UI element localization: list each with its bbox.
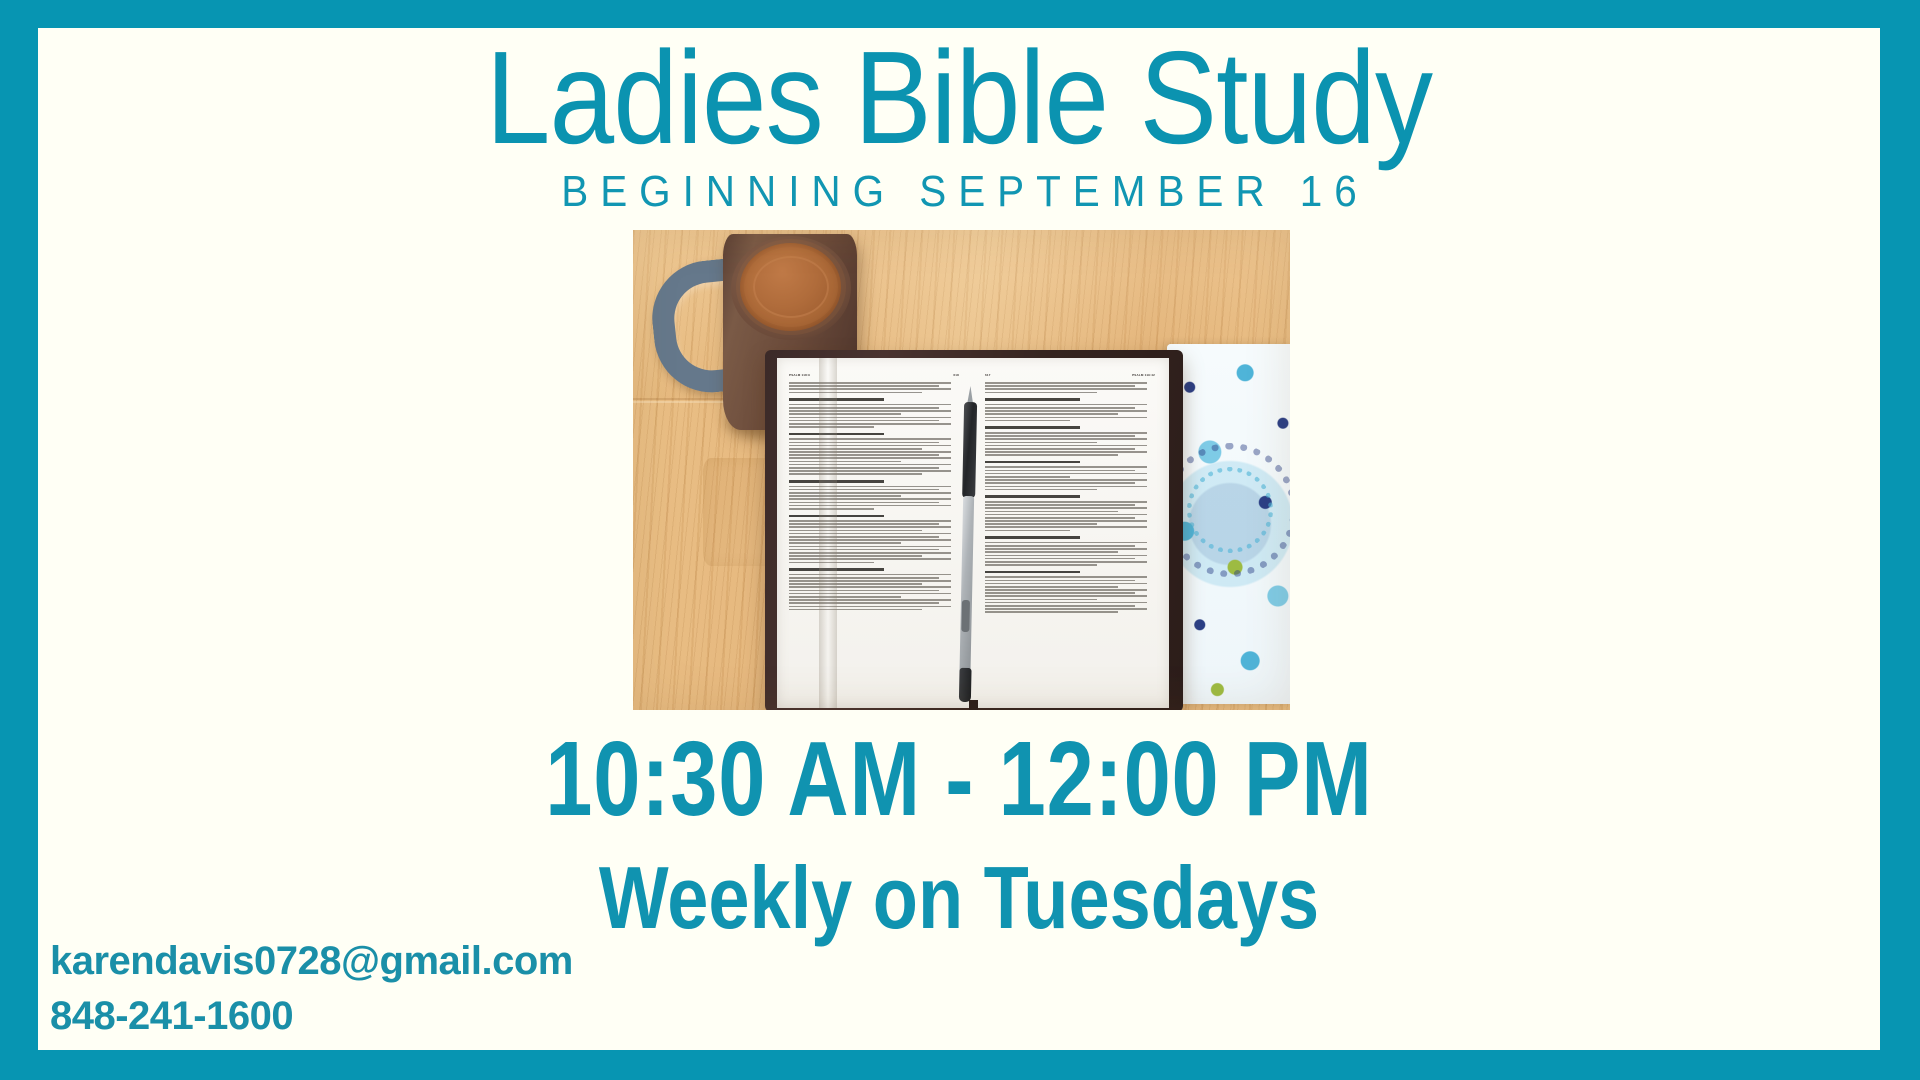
text-line bbox=[985, 486, 1147, 488]
text-line bbox=[789, 520, 951, 522]
bible-gutter bbox=[819, 358, 837, 708]
text-line bbox=[789, 461, 901, 463]
contact-phone[interactable]: 848-241-1600 bbox=[50, 995, 573, 1038]
text-line bbox=[789, 448, 922, 450]
text-line bbox=[985, 583, 1147, 585]
text-line bbox=[789, 445, 951, 447]
section-heading bbox=[985, 398, 1080, 401]
section-heading bbox=[985, 426, 1080, 429]
text-line bbox=[789, 388, 951, 390]
text-line bbox=[985, 489, 1097, 491]
text-line bbox=[789, 392, 922, 394]
text-line bbox=[985, 511, 1118, 513]
page-title: Ladies Bible Study bbox=[149, 32, 1770, 164]
text-line bbox=[789, 609, 922, 611]
fabric-medallion-inner bbox=[1187, 467, 1273, 553]
bible-page-right: 617 PSALM 119:42 bbox=[985, 374, 1155, 696]
text-line bbox=[789, 492, 951, 494]
page-number-left: 618 bbox=[953, 374, 959, 377]
text-line bbox=[985, 413, 1118, 415]
text-line bbox=[985, 576, 1147, 578]
text-line bbox=[789, 470, 951, 472]
text-line bbox=[985, 589, 1147, 591]
text-line bbox=[789, 502, 939, 504]
text-line bbox=[789, 420, 939, 422]
text-line bbox=[789, 530, 922, 532]
text-line bbox=[985, 517, 1135, 519]
page-header-left: PSALM 118:9 618 bbox=[789, 374, 959, 377]
text-line bbox=[789, 558, 951, 560]
text-line bbox=[985, 602, 1147, 604]
text-line bbox=[985, 564, 1097, 566]
pen-clip bbox=[961, 600, 970, 632]
text-line bbox=[789, 546, 951, 548]
text-line bbox=[985, 586, 1118, 588]
text-line bbox=[789, 407, 939, 409]
section-heading bbox=[985, 461, 1080, 464]
text-line bbox=[789, 590, 939, 592]
text-line bbox=[789, 555, 922, 557]
text-line bbox=[985, 473, 1147, 475]
text-line bbox=[985, 388, 1147, 390]
text-line bbox=[985, 482, 1135, 484]
text-line bbox=[789, 385, 939, 387]
flyer-poster: Ladies Bible Study BEGINNING SEPTEMBER 1… bbox=[0, 0, 1920, 1080]
text-line bbox=[985, 417, 1147, 419]
section-heading bbox=[985, 571, 1080, 574]
text-line bbox=[985, 404, 1147, 406]
text-line bbox=[789, 539, 951, 541]
text-line bbox=[789, 577, 939, 579]
text-line bbox=[789, 495, 901, 497]
text-line bbox=[985, 432, 1147, 434]
text-line bbox=[985, 526, 1147, 528]
text-line bbox=[985, 520, 1147, 522]
header-block: Ladies Bible Study BEGINNING SEPTEMBER 1… bbox=[38, 32, 1880, 214]
text-line bbox=[985, 385, 1135, 387]
text-line bbox=[985, 470, 1135, 472]
pen-grip bbox=[962, 402, 977, 498]
text-line bbox=[789, 457, 951, 459]
text-line bbox=[985, 605, 1135, 607]
pen-end-cap bbox=[958, 668, 971, 702]
text-line bbox=[789, 410, 951, 412]
text-line bbox=[789, 602, 939, 604]
page-header-right: 617 PSALM 119:42 bbox=[985, 374, 1155, 377]
photo-canvas: PSALM 118:9 618 bbox=[633, 230, 1290, 710]
text-line bbox=[789, 526, 951, 528]
text-line bbox=[985, 438, 1147, 440]
text-line bbox=[789, 489, 939, 491]
text-line bbox=[985, 392, 1097, 394]
text-line bbox=[985, 501, 1147, 503]
text-line bbox=[789, 552, 951, 554]
text-line bbox=[985, 410, 1147, 412]
text-line bbox=[985, 545, 1135, 547]
text-line bbox=[789, 417, 951, 419]
text-line bbox=[985, 451, 1147, 453]
text-line bbox=[985, 479, 1147, 481]
page-number-right: 617 bbox=[985, 374, 991, 377]
text-line bbox=[789, 473, 922, 475]
text-line bbox=[789, 549, 939, 551]
text-line bbox=[789, 583, 922, 585]
text-line bbox=[985, 558, 1135, 560]
text-line bbox=[789, 404, 951, 406]
text-line bbox=[789, 413, 901, 415]
text-line bbox=[985, 466, 1147, 468]
text-line bbox=[789, 382, 951, 384]
bible-page-left: PSALM 118:9 618 bbox=[789, 374, 959, 696]
text-line bbox=[985, 448, 1135, 450]
text-line bbox=[789, 599, 951, 601]
patterned-bible-cover bbox=[1167, 344, 1290, 704]
text-line bbox=[985, 454, 1118, 456]
text-line bbox=[985, 382, 1147, 384]
bible-photo: PSALM 118:9 618 bbox=[633, 230, 1290, 710]
text-line bbox=[985, 608, 1147, 610]
text-line bbox=[789, 423, 951, 425]
text-line bbox=[985, 580, 1135, 582]
running-head-right: PSALM 119:42 bbox=[1132, 374, 1155, 377]
text-line bbox=[789, 593, 951, 595]
text-line bbox=[789, 523, 939, 525]
bible-ribbon-bookmark bbox=[969, 700, 978, 710]
text-line bbox=[985, 561, 1147, 563]
pen-barrel bbox=[959, 496, 974, 674]
text-line bbox=[985, 599, 1097, 601]
text-line bbox=[985, 555, 1147, 557]
text-line bbox=[985, 542, 1147, 544]
text-line bbox=[789, 596, 901, 598]
text-line bbox=[789, 451, 951, 453]
text-line bbox=[789, 536, 939, 538]
coffee-surface bbox=[740, 243, 841, 331]
text-line bbox=[985, 507, 1147, 509]
section-heading bbox=[985, 536, 1080, 539]
text-line bbox=[985, 407, 1135, 409]
text-line bbox=[985, 530, 1070, 532]
text-line bbox=[985, 442, 1097, 444]
text-line bbox=[985, 445, 1147, 447]
text-line bbox=[985, 420, 1070, 422]
section-heading bbox=[985, 495, 1080, 498]
text-line bbox=[985, 551, 1118, 553]
text-line bbox=[789, 442, 939, 444]
schedule-block: 10:30 AM - 12:00 PM Weekly on Tuesdays bbox=[38, 726, 1880, 942]
text-line bbox=[789, 606, 951, 608]
flyer-content-area: Ladies Bible Study BEGINNING SEPTEMBER 1… bbox=[38, 28, 1880, 1050]
text-line bbox=[985, 592, 1135, 594]
text-line bbox=[789, 586, 951, 588]
text-line bbox=[789, 464, 951, 466]
text-line bbox=[789, 486, 951, 488]
page-subtitle: BEGINNING SEPTEMBER 16 bbox=[112, 170, 1807, 214]
coffee-swirl bbox=[753, 256, 829, 318]
text-line bbox=[789, 574, 951, 576]
contact-email[interactable]: karendavis0728@gmail.com bbox=[50, 940, 573, 983]
text-line bbox=[789, 542, 901, 544]
event-time: 10:30 AM - 12:00 PM bbox=[222, 726, 1696, 832]
running-head-left: PSALM 118:9 bbox=[789, 374, 810, 377]
text-line bbox=[985, 595, 1147, 597]
text-line bbox=[789, 580, 951, 582]
text-line bbox=[985, 504, 1135, 506]
text-line bbox=[789, 438, 951, 440]
text-line bbox=[789, 498, 951, 500]
contact-block: karendavis0728@gmail.com 848-241-1600 bbox=[50, 940, 573, 1050]
event-frequency: Weekly on Tuesdays bbox=[185, 854, 1732, 942]
text-line bbox=[985, 523, 1097, 525]
text-line bbox=[789, 454, 939, 456]
text-line bbox=[789, 467, 939, 469]
text-line bbox=[789, 533, 951, 535]
text-line bbox=[985, 611, 1118, 613]
text-line bbox=[985, 476, 1070, 478]
text-line bbox=[985, 514, 1147, 516]
text-line bbox=[985, 435, 1135, 437]
text-line bbox=[985, 548, 1147, 550]
text-line bbox=[789, 505, 951, 507]
